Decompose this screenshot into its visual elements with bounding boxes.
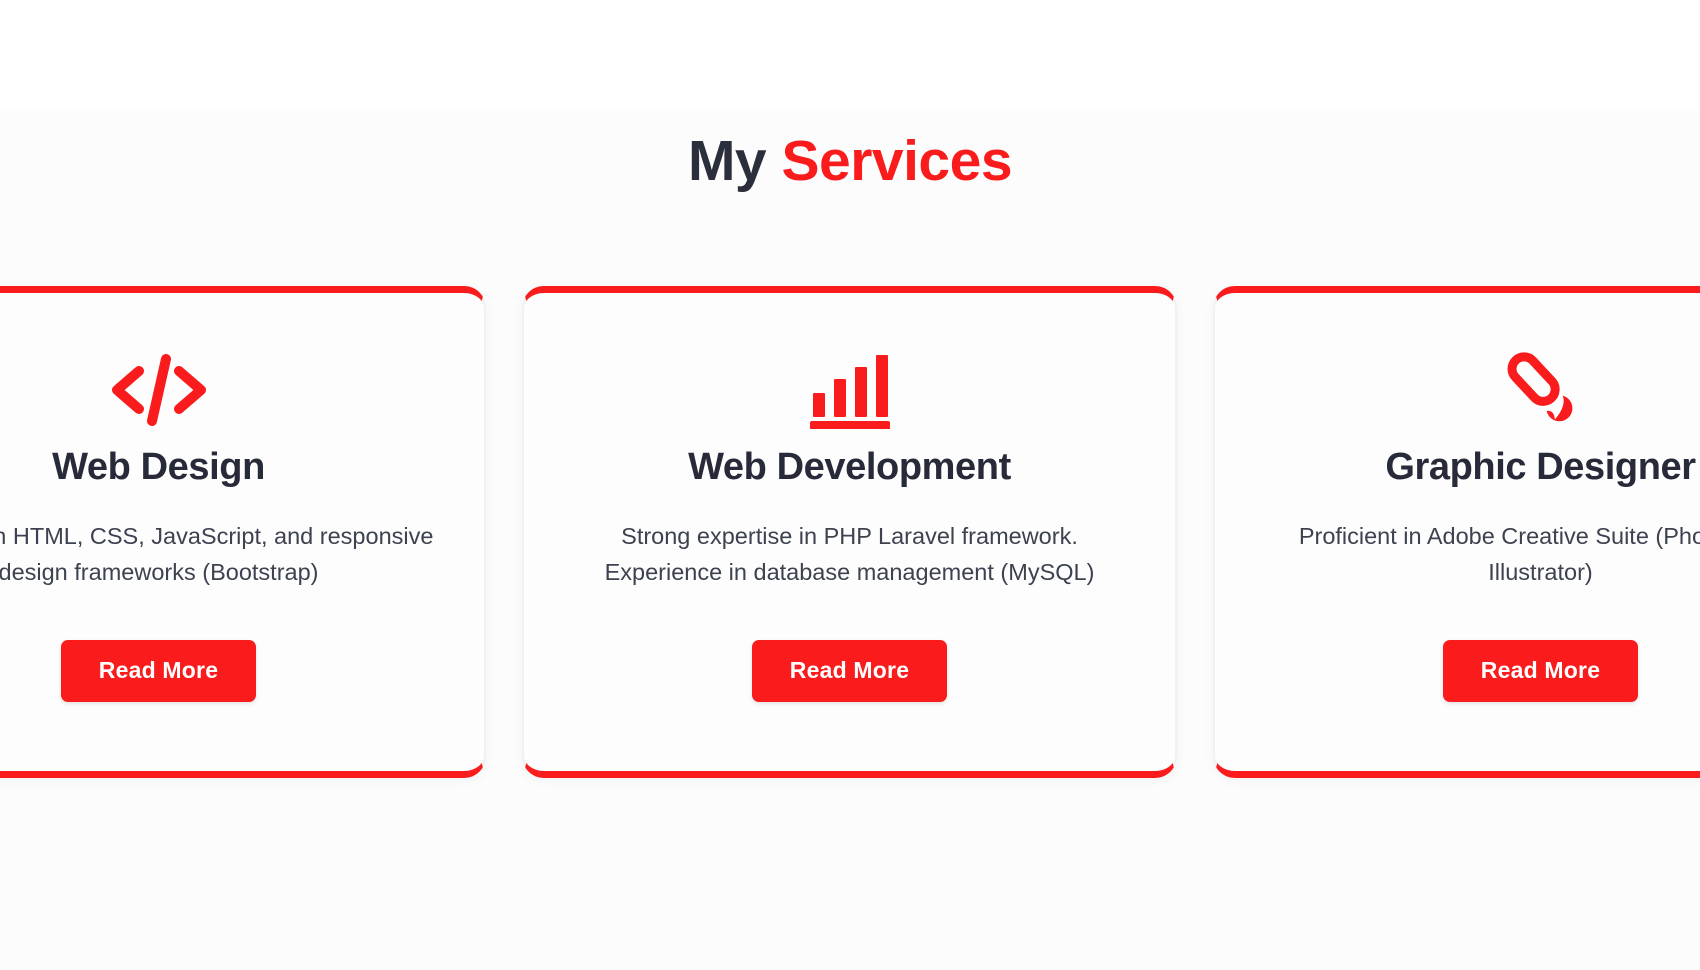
paint-brush-icon bbox=[1486, 347, 1596, 433]
card-title: Web Development bbox=[688, 445, 1011, 491]
card-description: Proficient in Adobe Creative Suite (Phot… bbox=[1261, 518, 1700, 590]
page-title: My Services bbox=[0, 128, 1700, 195]
services-page: My Services Web Design Proficient in HTM… bbox=[0, 0, 1700, 970]
read-more-button[interactable]: Read More bbox=[1443, 640, 1638, 702]
code-icon bbox=[104, 347, 214, 433]
card-description: Strong expertise in PHP Laravel framewor… bbox=[570, 518, 1130, 590]
service-card-graphic-designer[interactable]: Graphic Designer Proficient in Adobe Cre… bbox=[1213, 286, 1700, 778]
service-card-web-development[interactable]: Web Development Strong expertise in PHP … bbox=[522, 286, 1177, 778]
card-title: Graphic Designer bbox=[1385, 445, 1695, 491]
service-cards-row: Web Design Proficient in HTML, CSS, Java… bbox=[0, 286, 1700, 778]
page-title-accent: Services bbox=[781, 129, 1012, 193]
services-section: My Services Web Design Proficient in HTM… bbox=[0, 111, 1700, 970]
read-more-button[interactable]: Read More bbox=[61, 640, 256, 702]
read-more-button[interactable]: Read More bbox=[752, 640, 947, 702]
card-title: Web Design bbox=[52, 445, 265, 491]
top-white-strip bbox=[0, 0, 1700, 111]
bar-chart-icon bbox=[795, 347, 905, 433]
service-card-web-design[interactable]: Web Design Proficient in HTML, CSS, Java… bbox=[0, 286, 486, 778]
card-description: Proficient in HTML, CSS, JavaScript, and… bbox=[0, 518, 439, 590]
page-title-primary: My bbox=[688, 129, 766, 193]
